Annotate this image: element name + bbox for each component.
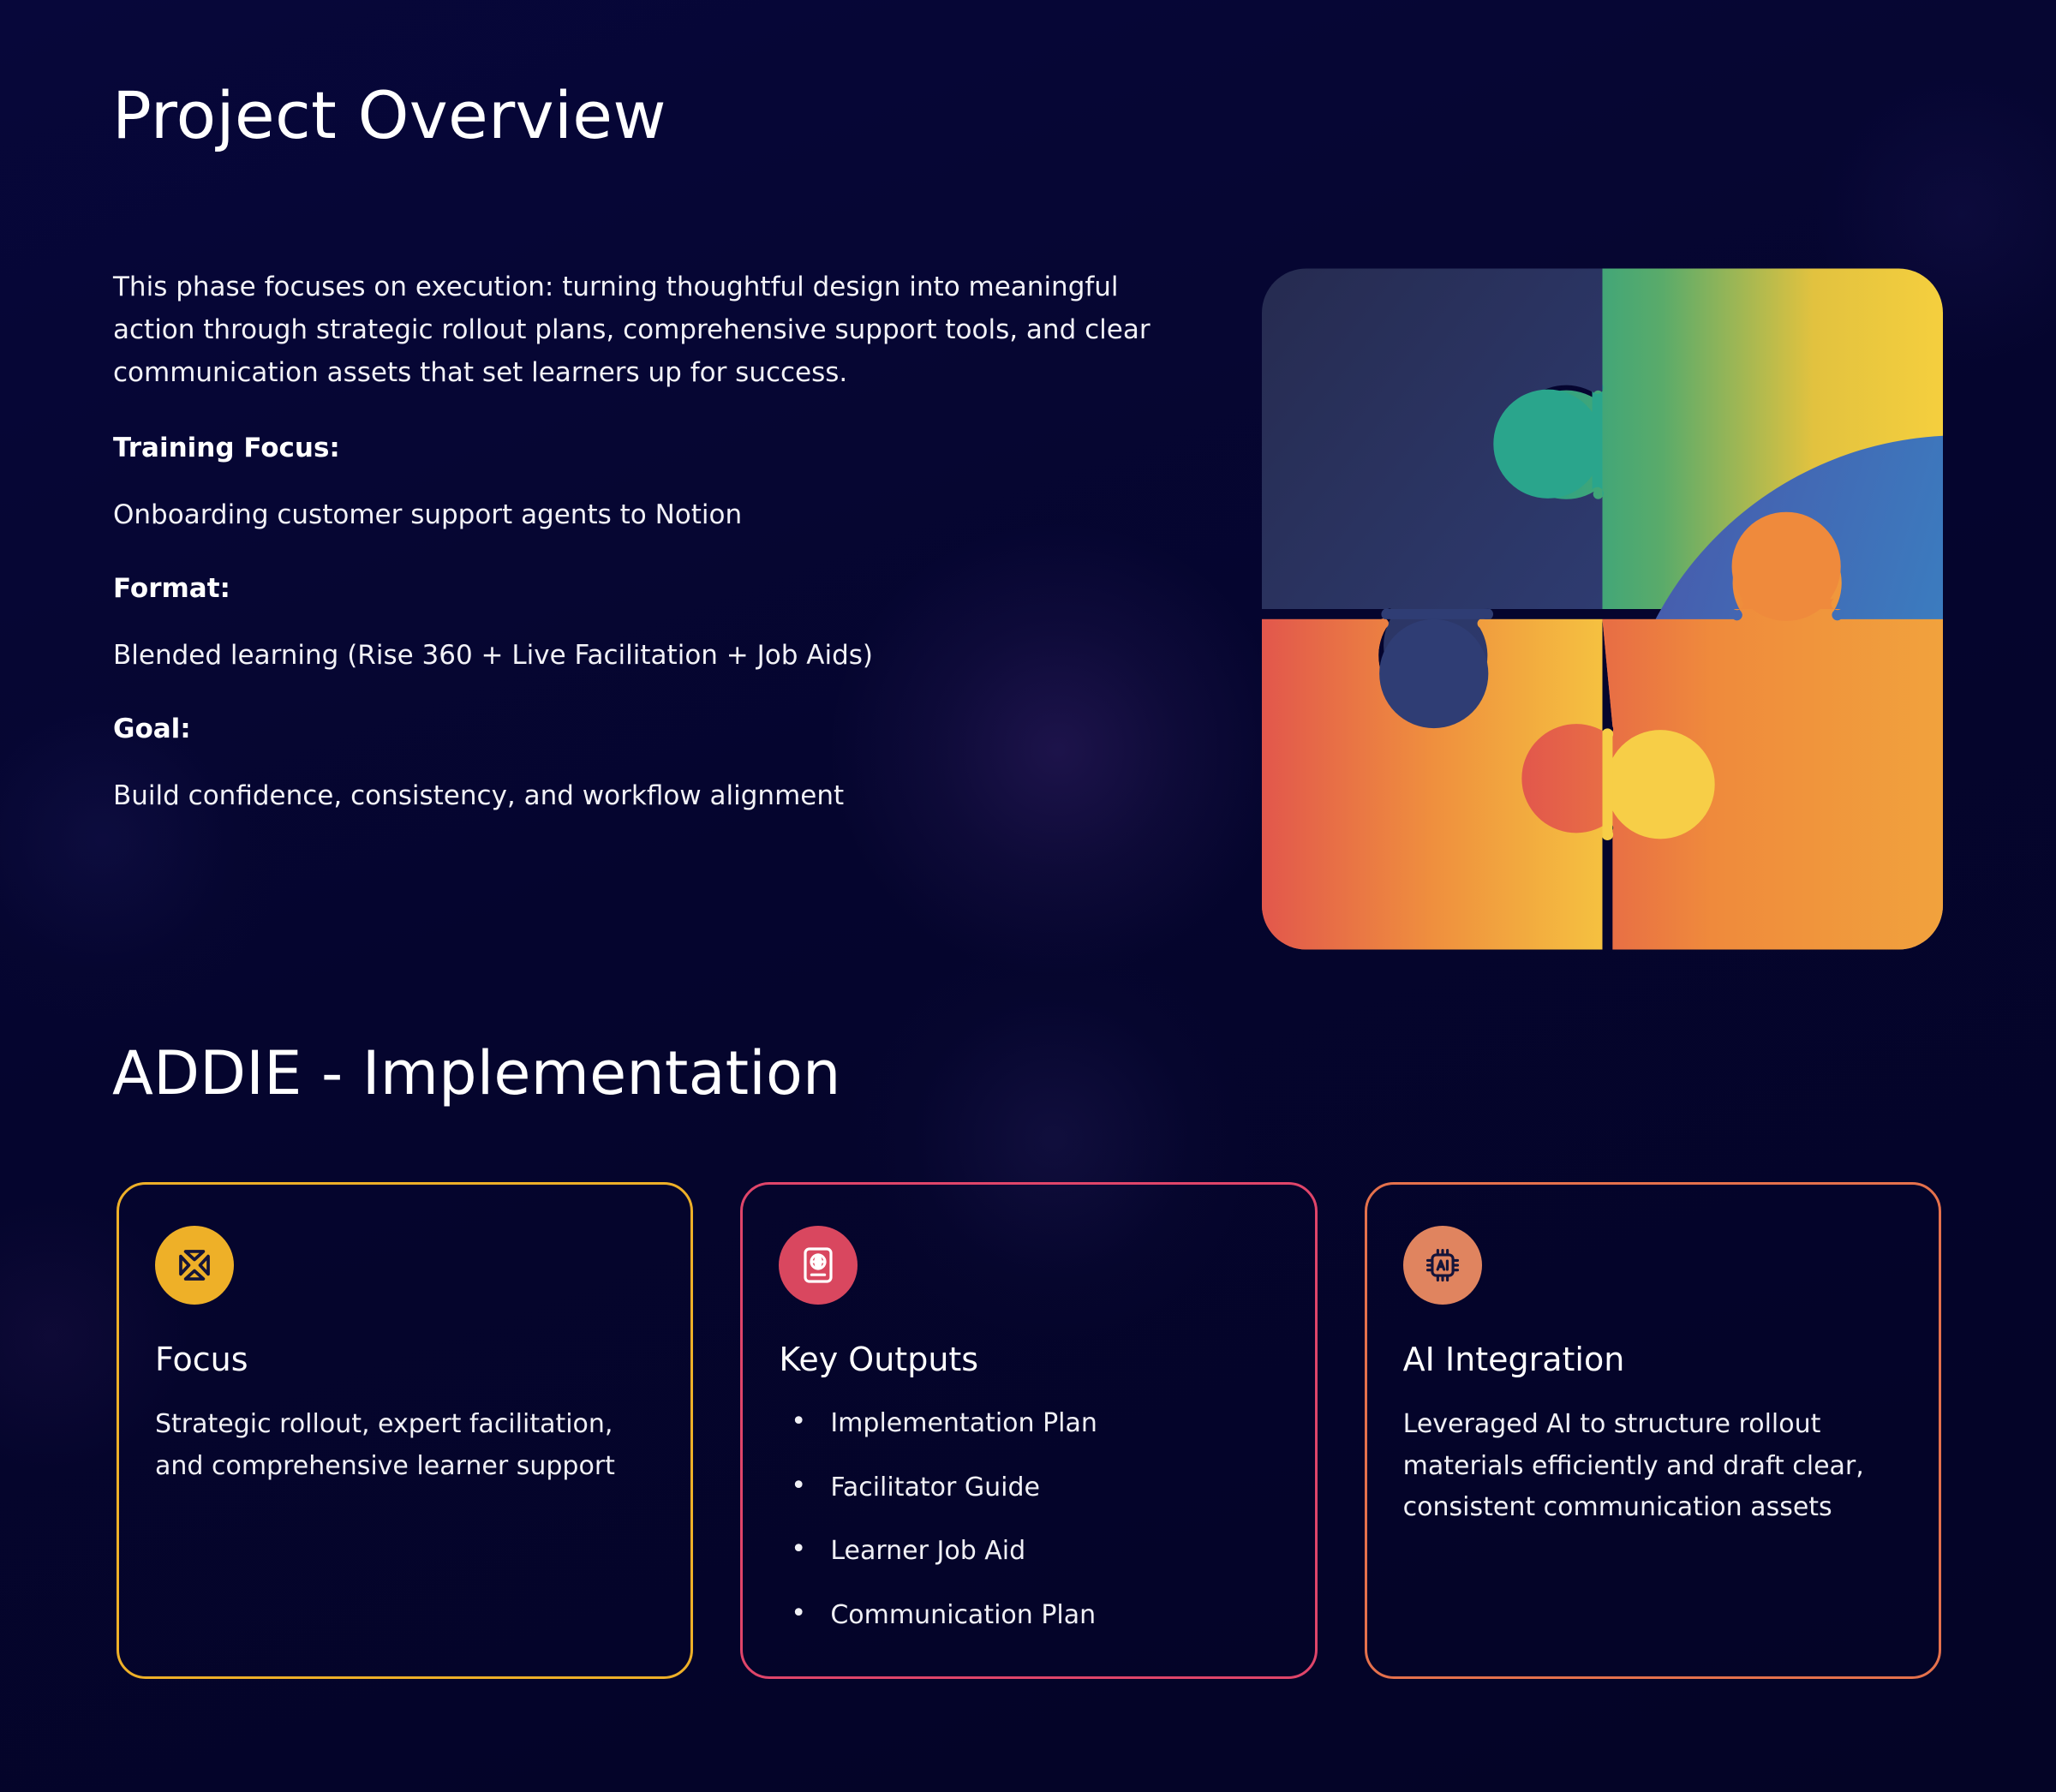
card-focus[interactable]: Focus Strategic rollout, expert facilita… bbox=[117, 1182, 693, 1679]
training-focus-label: Training Focus: bbox=[113, 433, 1192, 463]
page-title: Project Overview bbox=[112, 81, 666, 150]
ai-chip-icon bbox=[1403, 1226, 1482, 1305]
focus-target-glyph bbox=[172, 1243, 217, 1287]
card-body: Leveraged AI to structure rollout materi… bbox=[1403, 1404, 1903, 1529]
passport-globe-glyph bbox=[798, 1245, 839, 1286]
list-item: Facilitator Guide bbox=[779, 1468, 1278, 1508]
overview-intro-paragraph: This phase focuses on execution: turning… bbox=[113, 266, 1184, 395]
project-overview-text: This phase focuses on execution: turning… bbox=[113, 266, 1192, 811]
list-item: Communication Plan bbox=[779, 1596, 1278, 1636]
section-title: ADDIE - Implementation bbox=[112, 1038, 841, 1108]
card-key-outputs[interactable]: Key Outputs Implementation Plan Facilita… bbox=[740, 1182, 1317, 1679]
card-ai-integration[interactable]: AI Integration Leveraged AI to structure… bbox=[1365, 1182, 1941, 1679]
card-title: AI Integration bbox=[1403, 1341, 1903, 1378]
card-body: Strategic rollout, expert facilitation, … bbox=[155, 1404, 654, 1487]
passport-globe-icon bbox=[779, 1226, 858, 1305]
goal-value: Build confidence, consistency, and workf… bbox=[113, 780, 1192, 811]
format-value: Blended learning (Rise 360 + Live Facili… bbox=[113, 640, 1192, 671]
slide-canvas: Project Overview This phase focuses on e… bbox=[0, 0, 2056, 1792]
ai-chip-glyph bbox=[1421, 1244, 1464, 1287]
list-item: Learner Job Aid bbox=[779, 1532, 1278, 1572]
goal-label: Goal: bbox=[113, 714, 1192, 744]
card-title: Key Outputs bbox=[779, 1341, 1278, 1378]
puzzle-graphic bbox=[1262, 261, 1943, 957]
addie-cards: Focus Strategic rollout, expert facilita… bbox=[117, 1182, 1941, 1679]
format-label: Format: bbox=[113, 573, 1192, 604]
puzzle-svg bbox=[1262, 261, 1943, 957]
focus-target-icon bbox=[155, 1226, 234, 1305]
card-title: Focus bbox=[155, 1341, 654, 1378]
key-outputs-list: Implementation Plan Facilitator Guide Le… bbox=[779, 1404, 1278, 1635]
training-focus-value: Onboarding customer support agents to No… bbox=[113, 499, 1192, 530]
list-item: Implementation Plan bbox=[779, 1404, 1278, 1444]
